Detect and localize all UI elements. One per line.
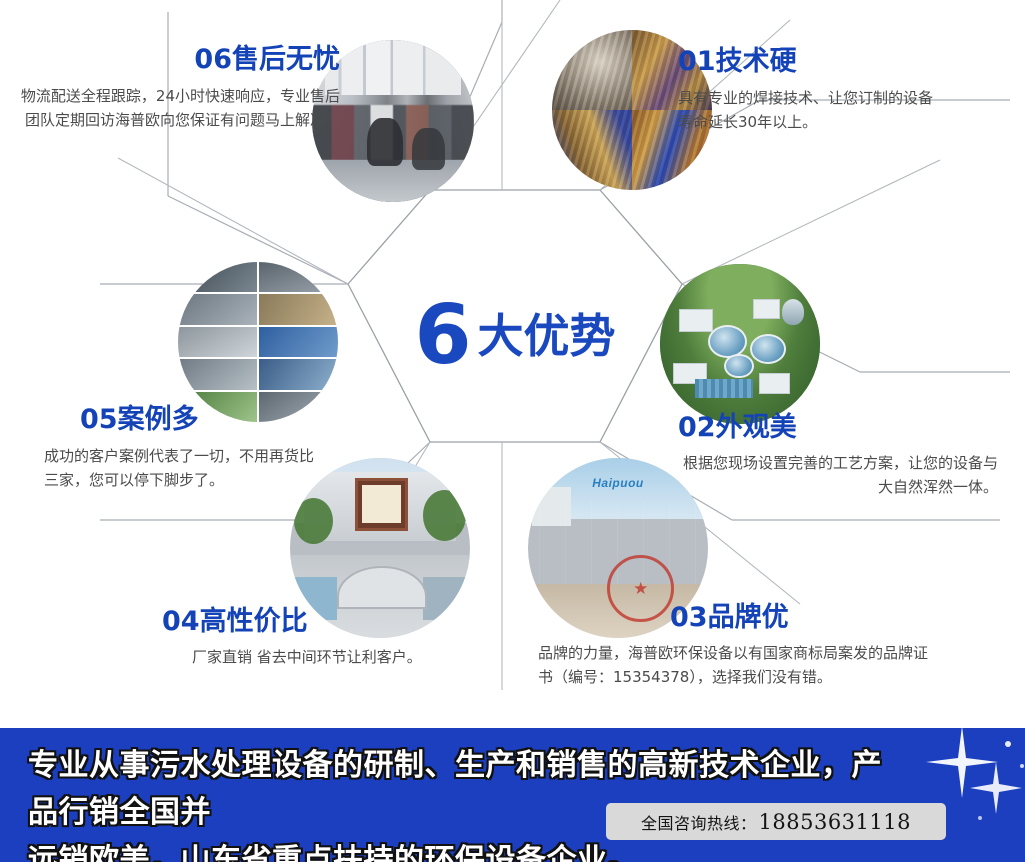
advantage-heading-05: 05案例多 — [80, 406, 314, 433]
advantage-body-04: 厂家直销 省去中间环节让利客户。 — [192, 645, 462, 669]
advantage-heading-04: 04高性价比 — [162, 608, 462, 635]
advantage-body-06: 物流配送全程跟踪，24小时快速响应，专业售后团队定期回访海普欧向您保证有问题马上… — [20, 84, 340, 133]
advantage-block-02: 02外观美 根据您现场设置完善的工艺方案，让您的设备与大自然浑然一体。 — [678, 414, 998, 500]
advantage-block-01: 01技术硬 具有专业的焊接技术、让您订制的设备寿命延长30年以上。 — [678, 48, 938, 135]
advantage-heading-06: 06售后无忧 — [20, 46, 340, 73]
advantage-photo-02 — [660, 264, 820, 424]
banner-text: 专业从事污水处理设备的研制、生产和销售的高新技术企业，产品行销全国并 远销欧美，… — [28, 742, 888, 862]
center-label: 6 大优势 — [380, 288, 650, 383]
hotline-number: 18853631118 — [759, 810, 911, 834]
infographic-root: Haipuou ★ 6 大优势 06售后无忧 物流配送全程跟踪，24小时快速响应… — [0, 0, 1025, 862]
haipuou-logo: Haipuou — [592, 476, 644, 490]
advantage-block-06: 06售后无忧 物流配送全程跟踪，24小时快速响应，专业售后团队定期回访海普欧向您… — [20, 46, 340, 133]
advantage-body-01: 具有专业的焊接技术、让您订制的设备寿命延长30年以上。 — [678, 86, 938, 135]
advantage-block-05: 05案例多 成功的客户案例代表了一切，不用再货比三家，您可以停下脚步了。 — [44, 406, 314, 493]
center-number: 6 — [414, 295, 469, 377]
banner-line-2: 远销欧美，山东省重点扶持的环保设备企业。 — [28, 837, 888, 862]
advantage-photo-05 — [178, 262, 338, 422]
advantage-heading-02: 02外观美 — [678, 414, 998, 441]
advantage-body-03: 品牌的力量，海普欧环保设备以有国家商标局案发的品牌证书（编号：15354378）… — [538, 641, 938, 690]
center-text: 大优势 — [478, 313, 616, 359]
advantage-heading-03: 03品牌优 — [670, 604, 938, 631]
hotline-box[interactable]: 全国咨询热线： 18853631118 — [606, 803, 946, 840]
bottom-banner: 专业从事污水处理设备的研制、生产和销售的高新技术企业，产品行销全国并 远销欧美，… — [0, 728, 1025, 862]
advantage-body-05: 成功的客户案例代表了一切，不用再货比三家，您可以停下脚步了。 — [44, 444, 314, 493]
advantage-heading-01: 01技术硬 — [678, 48, 938, 75]
advantage-body-02: 根据您现场设置完善的工艺方案，让您的设备与大自然浑然一体。 — [678, 451, 998, 500]
advantage-block-03: 03品牌优 品牌的力量，海普欧环保设备以有国家商标局案发的品牌证书（编号：153… — [538, 604, 938, 690]
hotline-label: 全国咨询热线： — [641, 810, 757, 834]
advantage-block-04: 04高性价比 厂家直销 省去中间环节让利客户。 — [162, 608, 462, 669]
